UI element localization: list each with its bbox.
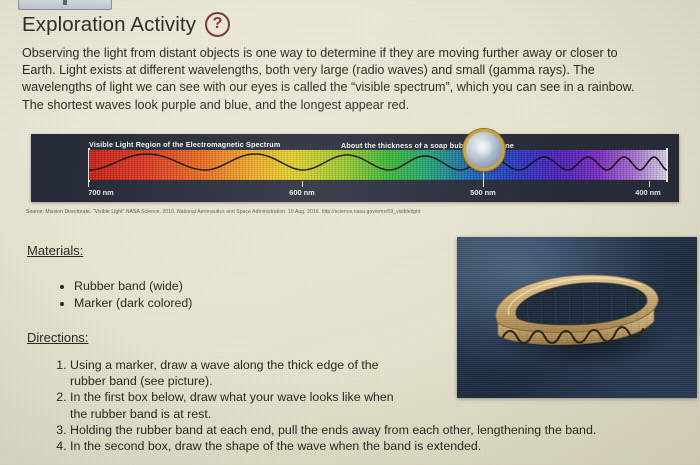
direction-step-2-line-2: the rubber band is at rest. [70, 406, 700, 422]
spectrum-label-600: 600 nm [289, 188, 314, 197]
list-item: Rubber band (wide) [74, 278, 192, 295]
spectrum-label-700: 700 nm [88, 188, 113, 197]
spectrum-axis-right [666, 148, 668, 182]
spectrum-label-400: 400 nm [635, 188, 660, 197]
list-item: In the second box, draw the shape of the… [70, 438, 700, 454]
direction-step-3-line-1: Holding the rubber band at each end, pul… [70, 422, 700, 438]
spectrum-tick-400 [649, 181, 650, 187]
question-mark-icon[interactable]: ? [205, 12, 230, 37]
page-title: Exploration Activity [22, 13, 196, 37]
coin-pointer-line [483, 170, 484, 182]
list-item: Holding the rubber band at each end, pul… [70, 422, 700, 438]
intro-line-1: Observing the light from distant objects… [22, 45, 677, 62]
page-title-row: Exploration Activity ? [22, 12, 230, 37]
toolbar-widget-marker [63, 0, 67, 5]
directions-heading: Directions: [27, 330, 88, 345]
activity-page: Exploration Activity ? Observing the lig… [0, 0, 700, 465]
list-item: Marker (dark colored) [74, 295, 192, 312]
spectrum-tick-600 [302, 181, 303, 187]
direction-step-4-line-1: In the second box, draw the shape of the… [70, 438, 700, 454]
intro-line-2: Earth. Light exists at different wavelen… [22, 62, 677, 79]
intro-line-4: The shortest waves look purple and blue,… [22, 97, 677, 114]
rubber-band-illustration [457, 237, 697, 398]
spectrum-figure-title: Visible Light Region of the Electromagne… [89, 140, 280, 149]
materials-heading: Materials: [27, 243, 83, 258]
coin-illustration [463, 129, 505, 171]
intro-paragraph: Observing the light from distant objects… [22, 45, 677, 114]
spectrum-color-band [89, 150, 667, 180]
spectrum-tick-700 [88, 181, 89, 187]
figure-citation: Source: Mission Directorate. “Visible Li… [26, 209, 666, 216]
rubber-band-photo [457, 237, 697, 398]
intro-line-3: wavelengths of light we can see with our… [22, 79, 677, 96]
materials-list: Rubber band (wide) Marker (dark colored) [52, 278, 192, 311]
spectrum-figure: Visible Light Region of the Electromagne… [31, 134, 679, 202]
top-toolbar-widget[interactable] [18, 0, 112, 10]
spectrum-label-500: 500 nm [470, 188, 495, 197]
